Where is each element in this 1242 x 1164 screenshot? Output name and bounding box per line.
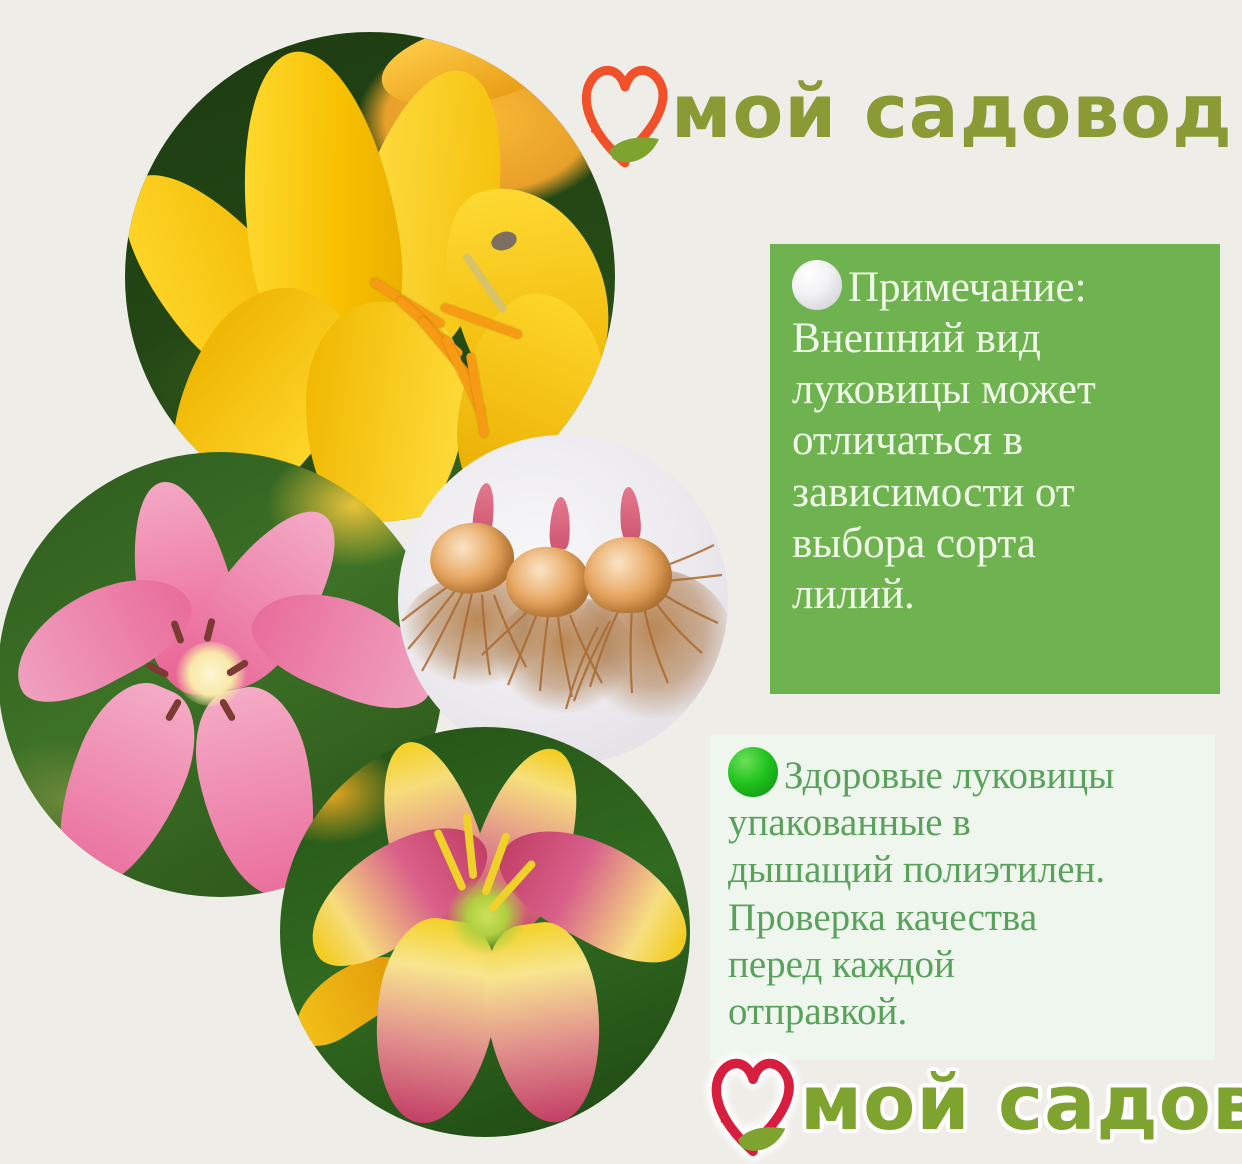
quality-line-5: отправкой. bbox=[728, 990, 907, 1033]
quality-line-1: упакованные в bbox=[728, 801, 971, 844]
note-line-6: лилий. bbox=[792, 571, 915, 618]
quality-line-4: перед каждой bbox=[728, 943, 955, 986]
quality-panel: Здоровые луковицы упакованные в дышащий … bbox=[710, 735, 1215, 1060]
note-text: Примечание: Внешний вид луковицы может о… bbox=[792, 260, 1202, 620]
heart-leaf-icon bbox=[700, 1047, 808, 1159]
quality-text: Здоровые луковицы упакованные в дышащий … bbox=[728, 747, 1205, 1035]
photo-red-yellow-lily[interactable] bbox=[280, 727, 690, 1137]
note-line-2: луковицы может bbox=[792, 366, 1096, 413]
lily-bulbs-image bbox=[398, 435, 728, 765]
note-line-5: выбора сорта bbox=[792, 520, 1036, 567]
note-line-1: Внешний вид bbox=[792, 315, 1041, 362]
note-panel: Примечание: Внешний вид луковицы может о… bbox=[770, 244, 1220, 694]
note-heading: Примечание: bbox=[848, 264, 1087, 311]
white-circle-bullet-icon bbox=[792, 260, 842, 310]
flower-center bbox=[176, 642, 246, 706]
logo-bottom-watermark[interactable]: мой садовод bbox=[700, 1044, 1242, 1162]
red-yellow-lily-image bbox=[280, 727, 690, 1137]
photo-lily-bulbs[interactable] bbox=[398, 435, 728, 765]
quality-line-3: Проверка качества bbox=[728, 896, 1037, 939]
heart-leaf-icon bbox=[575, 53, 677, 171]
note-line-4: зависимости от bbox=[792, 469, 1075, 516]
collage-canvas: мой садовод Примечание: Внешний вид луко… bbox=[0, 0, 1242, 1164]
brand-wordmark: мой садовод bbox=[671, 75, 1233, 149]
quality-line-0: Здоровые луковицы bbox=[784, 754, 1114, 797]
note-line-3: отличаться в bbox=[792, 417, 1023, 464]
green-circle-bullet-icon bbox=[728, 747, 778, 797]
petal bbox=[30, 667, 215, 897]
brand-wordmark: мой садовод bbox=[800, 1065, 1242, 1141]
logo-top[interactable]: мой садовод bbox=[575, 52, 1233, 172]
quality-line-2: дышащий полиэтилен. bbox=[728, 848, 1105, 891]
